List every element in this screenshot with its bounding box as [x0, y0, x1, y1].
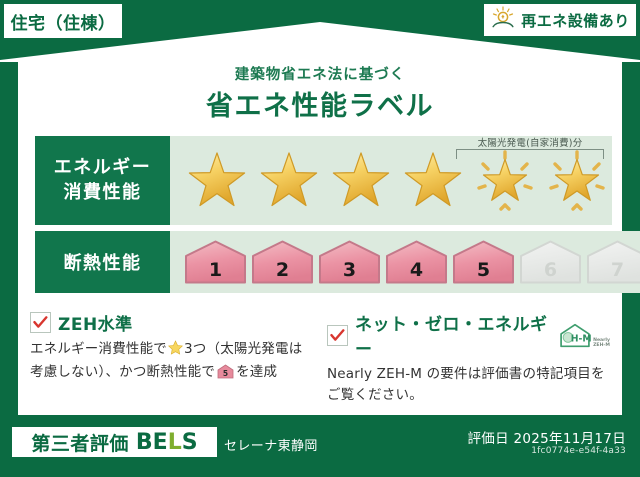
- bels-logo: 第三者評価 BELS: [12, 427, 217, 457]
- insulation-level-6: 6: [518, 239, 583, 285]
- zeh-standard-title: ZEH水準: [58, 310, 133, 335]
- zeh-m-logo: H-M Nearly ZEH-M: [558, 322, 610, 349]
- insulation-label-text: 断熱性能: [64, 249, 142, 275]
- house-type-badge-label: 住宅（住棟）: [11, 9, 116, 34]
- bels-en-be: BE: [136, 430, 168, 455]
- bels-jp-text: 第三者評価: [31, 429, 129, 456]
- bels-en-text: BELS: [136, 430, 198, 455]
- zeh-standard-heading: ZEH水準: [30, 310, 313, 335]
- bels-en-l: L: [168, 430, 182, 455]
- insulation-performance-row: 断熱性能 1234567: [35, 231, 605, 293]
- insulation-performance-body: 1234567: [170, 231, 640, 293]
- insulation-level-number: 7: [585, 259, 640, 281]
- solar-star-icon: [470, 148, 540, 214]
- check-icon: [327, 325, 348, 346]
- inline-star-icon: [168, 343, 183, 359]
- check-icon: [30, 312, 51, 333]
- insulation-level-number: 1: [183, 259, 248, 281]
- solar-star-icon: [542, 148, 612, 214]
- sun-icon: [490, 6, 516, 34]
- label-card: 建築物省エネ法に基づく 省エネ性能ラベル エネルギー 消費性能 太陽光発電(自家…: [18, 60, 622, 415]
- label-title: 省エネ性能ラベル: [18, 84, 622, 123]
- net-zero-energy-note: ネット・ゼロ・エネルギー H-M Nearly ZEH-M: [327, 310, 610, 406]
- energy-performance-label: エネルギー 消費性能: [35, 136, 170, 225]
- energy-label-line1: エネルギー: [54, 156, 152, 180]
- project-name: セレーナ東静岡: [224, 435, 318, 454]
- insulation-level-number: 3: [317, 259, 382, 281]
- renewable-equipment-badge-label: 再エネ設備あり: [521, 10, 630, 31]
- label-root: 住宅（住棟） 再エネ設備あり 建築物省エネ法に基づく 省エネ性能ラベル: [0, 0, 640, 477]
- insulation-level-2: 2: [250, 239, 315, 285]
- energy-performance-body: 太陽光発電(自家消費)分: [170, 136, 612, 225]
- zeh-logo-text: H-M: [571, 333, 592, 344]
- insulation-level-5: 5: [451, 239, 516, 285]
- energy-star-icon: [326, 148, 396, 214]
- energy-performance-row: エネルギー 消費性能 太陽光発電(自家消費)分: [35, 136, 605, 225]
- insulation-performance-label: 断熱性能: [35, 231, 170, 293]
- renewable-equipment-badge: 再エネ設備あり: [484, 4, 636, 36]
- zeh-house-icon: H-M: [558, 322, 592, 349]
- insulation-level-number: 6: [518, 259, 583, 281]
- bels-en-s: S: [182, 430, 198, 455]
- insulation-level-number: 2: [250, 259, 315, 281]
- insulation-level-3: 3: [317, 239, 382, 285]
- energy-star-icon: [182, 148, 252, 214]
- energy-star-icon: [254, 148, 324, 214]
- energy-star-rating: [170, 148, 612, 214]
- evaluation-date: 評価日 2025年11月17日: [467, 427, 626, 447]
- zeh-standard-body: エネルギー消費性能で3つ（太陽光発電は考慮しない）、かつ断熱性能で5を達成: [30, 339, 313, 386]
- insulation-level-scale: 1234567: [170, 239, 640, 285]
- insulation-level-number: 5: [451, 259, 516, 281]
- evaluation-id: 1fc0774e-e54f-4a33: [531, 446, 626, 456]
- insulation-level-7: 7: [585, 239, 640, 285]
- zeh-standard-note: ZEH水準 エネルギー消費性能で3つ（太陽光発電は考慮しない）、かつ断熱性能で5…: [30, 310, 313, 406]
- zeh-logo-sub-line2: ZEH-M: [593, 344, 610, 349]
- zeh-body-pre: エネルギー消費性能で: [30, 341, 167, 357]
- net-zero-heading: ネット・ゼロ・エネルギー H-M Nearly ZEH-M: [327, 310, 610, 360]
- label-footer: 第三者評価 BELS セレーナ東静岡 評価日 2025年11月17日 1fc07…: [0, 421, 640, 477]
- zeh-body-post: を達成: [236, 364, 277, 380]
- label-subtitle: 建築物省エネ法に基づく: [18, 63, 622, 84]
- notes-section: ZEH水準 エネルギー消費性能で3つ（太陽光発電は考慮しない）、かつ断熱性能で5…: [30, 310, 610, 406]
- net-zero-title: ネット・ゼロ・エネルギー: [355, 310, 548, 360]
- inline-house-badge: 5: [217, 364, 234, 386]
- net-zero-body: Nearly ZEH-M の要件は評価書の特記項目をご覧ください。: [327, 364, 610, 406]
- insulation-level-number: 4: [384, 259, 449, 281]
- energy-star-icon: [398, 148, 468, 214]
- insulation-level-4: 4: [384, 239, 449, 285]
- insulation-level-1: 1: [183, 239, 248, 285]
- inline-house-number: 5: [223, 369, 228, 378]
- house-type-badge: 住宅（住棟）: [4, 4, 122, 38]
- energy-label-line2: 消費性能: [64, 181, 142, 205]
- zeh-logo-subtext: Nearly ZEH-M: [593, 339, 610, 349]
